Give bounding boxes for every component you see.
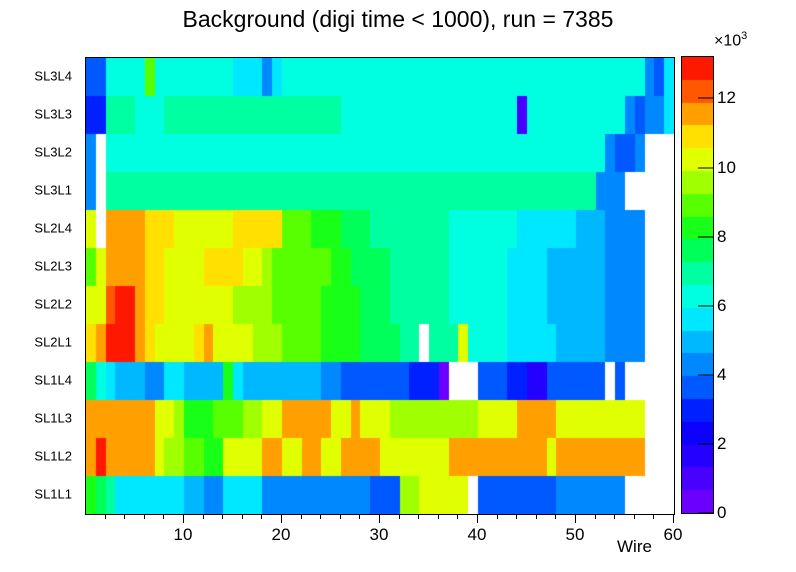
x-tick-mark xyxy=(673,514,674,523)
colorbar-exponent-power: 3 xyxy=(741,30,747,42)
x-tick-mark xyxy=(379,514,380,523)
heatmap-image xyxy=(86,58,674,514)
x-tick-mark xyxy=(359,514,360,519)
y-tick-label-sl1l4: SL1L4 xyxy=(34,373,72,388)
x-tick-mark xyxy=(634,514,635,519)
x-tick-mark xyxy=(242,514,243,519)
page-title: Background (digi time < 1000), run = 738… xyxy=(0,6,796,33)
x-tick-mark xyxy=(301,514,302,519)
y-tick-label-sl1l3: SL1L3 xyxy=(34,411,72,426)
colorbar-gradient xyxy=(681,56,714,514)
y-tick-label-sl1l1: SL1L1 xyxy=(34,487,72,502)
x-tick-label-60: 60 xyxy=(664,525,683,545)
x-tick-mark xyxy=(418,514,419,519)
y-tick-label-sl3l3: SL3L3 xyxy=(34,107,72,122)
colorbar-tick-label-2: 2 xyxy=(717,434,726,454)
y-tick-label-sl2l3: SL2L3 xyxy=(34,259,72,274)
x-tick-mark xyxy=(340,514,341,519)
x-tick-mark xyxy=(477,514,478,523)
colorbar-tick-label-10: 10 xyxy=(717,158,736,178)
colorbar-tick-label-0: 0 xyxy=(717,503,726,523)
x-tick-mark xyxy=(595,514,596,519)
x-tick-mark xyxy=(555,514,556,519)
x-tick-mark xyxy=(144,514,145,519)
colorbar[interactable]: 024681012 xyxy=(682,57,713,513)
x-tick-mark xyxy=(516,514,517,519)
x-tick-mark xyxy=(457,514,458,519)
colorbar-tick-mark xyxy=(698,236,713,237)
plot-area[interactable] xyxy=(85,57,675,515)
x-tick-mark xyxy=(614,514,615,519)
x-tick-mark xyxy=(222,514,223,519)
y-tick-label-sl2l4: SL2L4 xyxy=(34,221,72,236)
x-tick-mark xyxy=(575,514,576,523)
colorbar-tick-label-8: 8 xyxy=(717,227,726,247)
x-axis-title: Wire xyxy=(617,537,652,557)
y-tick-label-sl2l1: SL2L1 xyxy=(34,335,72,350)
colorbar-tick-label-6: 6 xyxy=(717,296,726,316)
x-tick-mark xyxy=(261,514,262,519)
x-tick-mark xyxy=(320,514,321,519)
y-tick-label-sl3l2: SL3L2 xyxy=(34,145,72,160)
colorbar-tick-mark xyxy=(698,374,713,375)
root-canvas: Background (digi time < 1000), run = 738… xyxy=(0,0,796,572)
x-axis: 102030405060 xyxy=(85,514,674,554)
x-tick-mark xyxy=(653,514,654,519)
x-tick-mark xyxy=(438,514,439,519)
x-tick-label-10: 10 xyxy=(174,525,193,545)
x-tick-mark xyxy=(203,514,204,519)
colorbar-exponent-label: ×103 xyxy=(714,30,747,50)
colorbar-tick-mark xyxy=(698,167,713,168)
x-tick-mark xyxy=(497,514,498,519)
x-tick-mark xyxy=(105,514,106,519)
x-tick-mark xyxy=(183,514,184,523)
x-tick-mark xyxy=(399,514,400,519)
x-tick-mark xyxy=(281,514,282,523)
colorbar-tick-mark xyxy=(698,98,713,99)
y-tick-label-sl1l2: SL1L2 xyxy=(34,449,72,464)
y-tick-label-sl3l1: SL3L1 xyxy=(34,183,72,198)
colorbar-tick-mark xyxy=(698,305,713,306)
x-tick-label-30: 30 xyxy=(370,525,389,545)
x-tick-label-20: 20 xyxy=(272,525,291,545)
colorbar-tick-label-12: 12 xyxy=(717,88,736,108)
x-tick-label-50: 50 xyxy=(566,525,585,545)
y-axis: SL3L4SL3L3SL3L2SL3L1SL2L4SL2L3SL2L2SL2L1… xyxy=(0,57,80,513)
y-tick-label-sl2l2: SL2L2 xyxy=(34,297,72,312)
colorbar-tick-label-4: 4 xyxy=(717,365,726,385)
x-tick-mark xyxy=(536,514,537,519)
colorbar-tick-mark xyxy=(698,443,713,444)
x-tick-mark xyxy=(124,514,125,519)
x-tick-mark xyxy=(163,514,164,519)
colorbar-tick-mark xyxy=(698,513,713,514)
x-tick-label-40: 40 xyxy=(468,525,487,545)
colorbar-exponent-base: ×10 xyxy=(714,32,741,49)
y-tick-label-sl3l4: SL3L4 xyxy=(34,69,72,84)
